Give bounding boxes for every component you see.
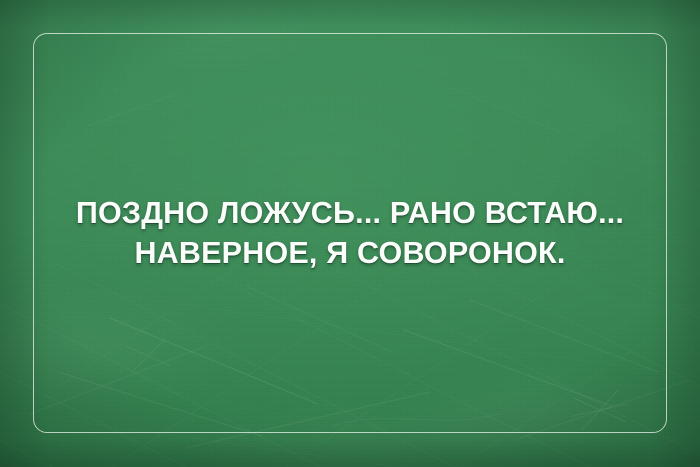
quote-line-2: НАВЕРНОЕ, Я СОВОРОНОК. [0,233,700,273]
quote-card: ПОЗДНО ЛОЖУСЬ... РАНО ВСТАЮ... НАВЕРНОЕ,… [0,0,700,467]
quote-text: ПОЗДНО ЛОЖУСЬ... РАНО ВСТАЮ... НАВЕРНОЕ,… [0,193,700,273]
quote-line-1: ПОЗДНО ЛОЖУСЬ... РАНО ВСТАЮ... [0,193,700,233]
